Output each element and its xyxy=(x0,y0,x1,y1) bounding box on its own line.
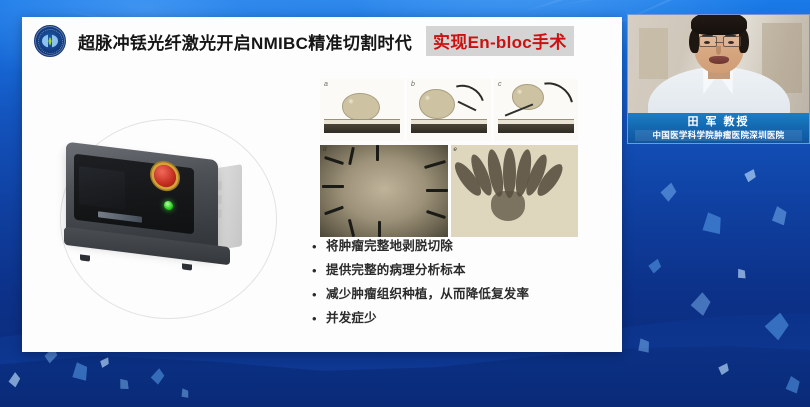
speaker-nose xyxy=(716,46,721,55)
slide-header: 超脉冲铥光纤激光开启NMIBC精准切割时代 实现En-bloc手术 xyxy=(22,17,622,65)
specimen-pin-icon xyxy=(378,221,381,237)
presentation-slide[interactable]: 超脉冲铥光纤激光开启NMIBC精准切割时代 实现En-bloc手术 a xyxy=(22,17,622,352)
laser-device-photo xyxy=(52,125,282,305)
crystal-shard-icon xyxy=(657,180,679,203)
figure-panel-c: c xyxy=(494,79,578,141)
tumor-mass-icon xyxy=(342,93,380,121)
bullet-marker-icon: • xyxy=(312,311,326,326)
speaker-eye xyxy=(728,41,734,44)
crystal-shard-icon xyxy=(688,290,712,317)
emblem-ring xyxy=(38,29,63,54)
bullet-marker-icon: • xyxy=(312,287,326,302)
device-foot xyxy=(80,254,90,261)
muscle-layer xyxy=(324,124,400,133)
specimen-pin-icon xyxy=(424,160,446,169)
figure-panel-e: e xyxy=(451,145,579,237)
figure-label-b: b xyxy=(411,81,415,88)
list-item-label: 并发症少 xyxy=(326,311,377,326)
webinar-stage: 超脉冲铥光纤激光开启NMIBC精准切割时代 实现En-bloc手术 a xyxy=(0,0,810,407)
specimen-pin-icon xyxy=(426,189,448,192)
figure-panel-a: a xyxy=(320,79,404,141)
speaker-figure xyxy=(654,27,784,123)
figure-row-top: a b c xyxy=(320,79,578,141)
specimen-pin-icon xyxy=(324,206,344,216)
bullet-marker-icon: • xyxy=(312,239,326,254)
crystal-shard-icon xyxy=(645,256,663,275)
list-item-label: 将肿瘤完整地剥脱切除 xyxy=(326,239,453,254)
speaker-organization: 中国医学科学院肿瘤医院深圳医院 xyxy=(635,130,802,141)
speaker-name: 田 军 教授 xyxy=(687,116,749,129)
muscle-layer xyxy=(498,124,574,133)
muscle-layer xyxy=(411,124,487,133)
list-item-label: 提供完整的病理分析标本 xyxy=(326,263,466,278)
crystal-shard-icon xyxy=(697,210,724,239)
figure-panel-d: d xyxy=(320,145,448,237)
bullet-marker-icon: • xyxy=(312,263,326,278)
light-streak-icon xyxy=(560,0,807,6)
device-touchscreen xyxy=(79,166,125,210)
speaker-nameplate: 田 军 教授 中国医学科学院肿瘤医院深圳医院 xyxy=(628,113,809,143)
figure-label-e: e xyxy=(454,147,457,153)
device-foot xyxy=(182,263,192,270)
list-item: • 并发症少 xyxy=(312,311,612,326)
list-item: • 减少肿瘤组织种植，从而降低复发率 xyxy=(312,287,612,302)
list-item-label: 减少肿瘤组织种植，从而降低复发率 xyxy=(326,287,529,302)
specimen-pin-icon xyxy=(324,156,344,165)
eyeglasses-bridge xyxy=(715,42,723,43)
list-item: • 提供完整的病理分析标本 xyxy=(312,263,612,278)
specimen-pin-icon xyxy=(348,219,355,237)
specimen-pin-icon xyxy=(348,147,355,165)
crystal-shard-icon xyxy=(741,166,759,184)
figure-panel-b: b xyxy=(407,79,491,141)
hospital-emblem-icon xyxy=(34,25,66,57)
speaker-mouth xyxy=(709,56,729,64)
figure-label-c: c xyxy=(498,81,502,88)
speaker-video-tile[interactable]: 田 军 教授 中国医学科学院肿瘤医院深圳医院 xyxy=(627,14,810,144)
figure-label-a: a xyxy=(324,81,328,88)
crystal-shard-icon xyxy=(734,266,748,281)
slide-title: 超脉冲铥光纤激光开启NMIBC精准切割时代 xyxy=(78,29,412,54)
slide-title-highlight: 实现En-bloc手术 xyxy=(426,26,574,56)
tumor-stalk xyxy=(491,191,525,221)
specimen-pin-icon xyxy=(376,145,379,161)
speaker-hair xyxy=(691,14,747,35)
figure-label-d: d xyxy=(323,147,326,153)
crystal-shard-icon xyxy=(769,205,789,227)
list-item: • 将肿瘤完整地剥脱切除 xyxy=(312,239,612,254)
specimen-pin-icon xyxy=(426,210,446,219)
figure-panel-group: a b c xyxy=(320,79,578,237)
bullet-list: • 将肿瘤完整地剥脱切除 • 提供完整的病理分析标本 • 减少肿瘤组织种植，从而… xyxy=(312,239,612,335)
speaker-eye xyxy=(704,41,710,44)
figure-row-bottom: d e xyxy=(320,145,578,237)
power-indicator-icon xyxy=(164,200,173,210)
specimen-pin-icon xyxy=(322,185,344,188)
